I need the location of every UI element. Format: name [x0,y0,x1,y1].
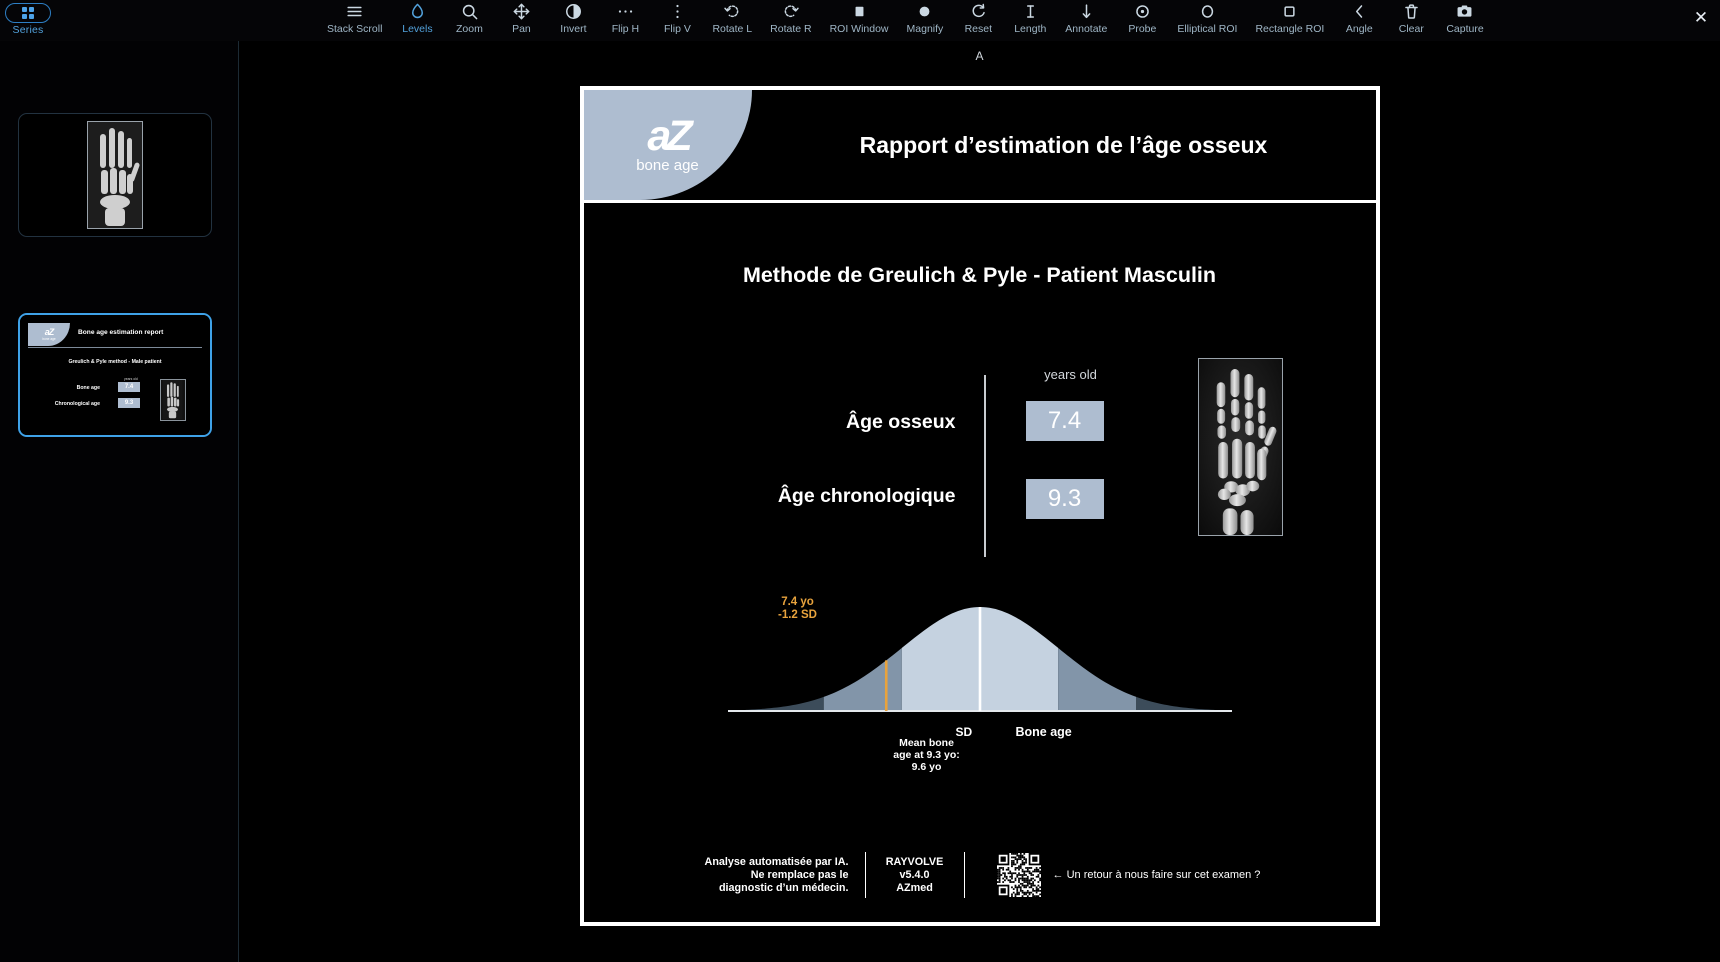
company-name: AZmed [896,882,933,894]
logo-subtitle: bone age [42,337,55,341]
hand-xray-mini-svg [161,380,184,419]
band-3 [1058,601,1136,713]
angle-chevron-icon [1350,2,1369,21]
rotate-left-icon [723,2,742,21]
mean-caption-line2: age at 9.3 yo: [893,749,960,761]
length-ruler-icon [1021,2,1040,21]
bone-age-value: 7.4 [1026,401,1104,441]
bone-age-distribution-chart: 7.4 yo -1.2 SD SD Bone age Mean bone age… [584,593,1376,793]
tool-rotate-l[interactable]: Rotate L [703,0,761,35]
tool-label: Rotate L [712,24,752,35]
tool-invert[interactable]: Invert [547,0,599,35]
tool-label: Stack Scroll [327,24,382,35]
tool-label: Rectangle ROI [1255,24,1324,35]
report-thumb-chrono-age-value: 9.3 [118,398,140,408]
magnify-circle-icon [915,2,934,21]
tool-levels[interactable]: Levels [391,0,443,35]
report-thumb-header: aZ bone age Bone age estimation report [28,323,202,348]
footer-divider-2 [964,852,965,898]
tool-label: Rotate R [770,24,811,35]
tool-stack-scroll[interactable]: Stack Scroll [318,0,391,35]
close-icon[interactable]: ✕ [1690,6,1712,28]
roi-window-icon [850,2,869,21]
rotate-right-icon [781,2,800,21]
pan-arrows-icon [512,2,531,21]
tool-label: Annotate [1065,24,1107,35]
series-label: Series [13,24,44,36]
product-name: RAYVOLVE [886,856,944,868]
feedback-prompt: ← Un retour à nous faire sur cet examen … [1053,869,1261,881]
tool-label: ROI Window [830,24,889,35]
tool-label: Angle [1346,24,1373,35]
report-header: aZ bone age Rapport d’estimation de l’âg… [584,90,1376,203]
tool-rotate-r[interactable]: Rotate R [761,0,820,35]
mean-bone-age-caption: Mean bone age at 9.3 yo: 9.6 yo [862,737,992,773]
qr-code-svg [997,853,1041,897]
report-body: Methode de Greulich & Pyle - Patient Mas… [584,203,1376,927]
series-icon-pill [5,3,51,23]
tool-angle[interactable]: Angle [1333,0,1385,35]
rectangle-icon [1280,2,1299,21]
magnifier-icon [460,2,479,21]
camera-icon [1455,2,1474,21]
series-button[interactable]: Series [4,2,52,36]
tool-zoom[interactable]: Zoom [443,0,495,35]
tool-rectangle-roi[interactable]: Rectangle ROI [1246,0,1333,35]
tool-label: Capture [1446,24,1483,35]
annotate-arrow-icon [1077,2,1096,21]
report-title: Rapport d’estimation de l’âge osseux [752,90,1376,200]
tool-capture[interactable]: Capture [1437,0,1492,35]
logo-mark: aZ [647,116,687,156]
image-viewport[interactable]: A aZ bone age Rapport d’estimation de l’… [239,41,1720,962]
patient-sd-annotation: -1.2 SD [753,609,843,622]
feedback-qr-code[interactable] [997,853,1041,897]
report-thumb-content: aZ bone age Bone age estimation report G… [20,315,210,435]
report-footer: Analyse automatisée par IA. Ne remplace … [584,847,1376,903]
probe-target-icon [1133,2,1152,21]
tool-elliptical-roi[interactable]: Elliptical ROI [1168,0,1246,35]
tool-label: Zoom [456,24,483,35]
top-toolbar: Series Stack ScrollLevelsZoom PanInvertF… [0,0,1720,42]
tool-label: Elliptical ROI [1177,24,1237,35]
bone-age-axis-label: Bone age [1016,725,1072,739]
years-old-unit-label: years old [1032,367,1110,382]
flip-horizontal-icon [616,2,635,21]
tool-reset[interactable]: Reset [952,0,1004,35]
thumbnail-hand-xray[interactable] [18,113,212,237]
thumbnail-bone-age-report[interactable]: aZ bone age Bone age estimation report G… [18,313,212,437]
tool-label: Magnify [907,24,944,35]
product-version: v5.4.0 [900,869,930,881]
report-thumb-bone-age-label: Bone age [28,385,100,391]
stack-scroll-icon [345,2,364,21]
invert-contrast-icon [564,2,583,21]
tool-magnify[interactable]: Magnify [898,0,953,35]
tool-label: Probe [1128,24,1156,35]
ai-disclaimer: Analyse automatisée par IA. Ne remplace … [699,856,849,895]
flip-vertical-icon [668,2,687,21]
tool-label: Levels [402,24,432,35]
tool-roi-window[interactable]: ROI Window [821,0,898,35]
patient-bone-age-annotation: 7.4 yo [753,596,843,609]
tool-list: Stack ScrollLevelsZoom PanInvertFlip HFl… [318,0,1493,41]
tool-length[interactable]: Length [1004,0,1056,35]
report-thumb-title: Bone age estimation report [78,329,163,336]
series-sidebar: aZ bone age Bone age estimation report G… [0,41,239,962]
tool-label: Reset [965,24,992,35]
orientation-marker-anterior: A [975,49,983,63]
report-thumb-units: years old [124,377,138,381]
ages-divider [984,375,986,557]
bone-age-label: Âge osseux [846,411,955,434]
band-4 [1136,601,1214,713]
tool-probe[interactable]: Probe [1116,0,1168,35]
tool-clear[interactable]: Clear [1385,0,1437,35]
report-thumb-xray [160,379,186,421]
ellipse-icon [1198,2,1217,21]
hand-xray-large-svg [1199,359,1282,535]
mean-caption-line1: Mean bone [899,737,954,749]
logo-mark: aZ [45,328,54,337]
logo-subtitle: bone age [636,157,699,175]
tool-label: Clear [1399,24,1424,35]
patient-marker-annotation: 7.4 yo -1.2 SD [753,596,843,622]
grid-icon [22,7,34,19]
report-thumb-logo: aZ bone age [28,323,70,346]
tool-label: Flip V [664,24,691,35]
mean-caption-line3: 9.6 yo [912,761,942,773]
product-version-block: RAYVOLVE v5.4.0 AZmed [882,856,948,895]
reset-arrow-icon [969,2,988,21]
chronological-age-value: 9.3 [1026,479,1104,519]
tool-pan[interactable]: Pan [495,0,547,35]
tool-label: Pan [512,24,531,35]
tool-flip-v[interactable]: Flip V [651,0,703,35]
tool-flip-h[interactable]: Flip H [599,0,651,35]
report-method-line: Methode de Greulich & Pyle - Patient Mas… [584,263,1376,288]
tool-annotate[interactable]: Annotate [1056,0,1116,35]
trash-icon [1402,2,1421,21]
ages-section: Âge osseux Âge chronologique years old 7… [584,363,1376,563]
azmed-logo: aZ bone age [584,90,752,200]
levels-icon [408,2,427,21]
tool-label: Invert [560,24,586,35]
hand-xray-thumb-image [87,121,143,229]
report-thumb-bone-age-value: 7.4 [118,382,140,392]
report-thumb-chrono-age-label: Chronological age [28,401,100,407]
hand-xray-svg [88,122,142,228]
bone-age-report-page: aZ bone age Rapport d’estimation de l’âg… [580,86,1380,926]
report-thumb-subtitle: Greulich & Pyle method - Male patient [20,359,210,365]
tool-label: Flip H [612,24,639,35]
hand-radiograph-image [1198,358,1283,536]
chronological-age-label: Âge chronologique [778,485,956,508]
tool-label: Length [1014,24,1046,35]
footer-divider-1 [865,852,866,898]
